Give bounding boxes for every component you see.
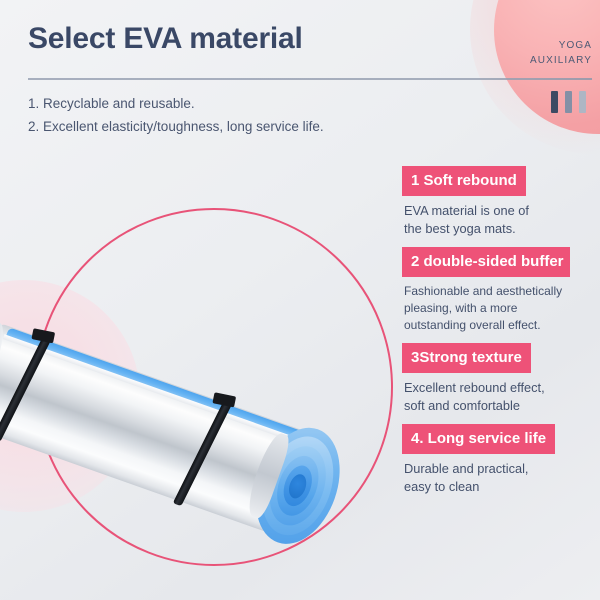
- page-title: Select EVA material: [28, 22, 303, 56]
- decorative-bars: [551, 91, 586, 113]
- feature-desc-4: Durable and practical, easy to clean: [402, 454, 600, 496]
- feature-item-4: 4. Long service life Durable and practic…: [402, 424, 600, 496]
- bar-1: [551, 91, 558, 113]
- feature-desc-1: EVA material is one of the best yoga mat…: [402, 196, 600, 238]
- feature-desc-3-line-2: soft and comfortable: [404, 397, 600, 415]
- intro-item-1: 1. Recyclable and reusable.: [28, 92, 428, 115]
- feature-desc-1-line-2: the best yoga mats.: [404, 220, 600, 238]
- intro-item-2: 2. Excellent elasticity/toughness, long …: [28, 115, 428, 138]
- brand-wordmark: YOGA AUXILIARY: [472, 38, 592, 68]
- feature-desc-2-line-3: outstanding overall effect.: [404, 317, 600, 334]
- feature-desc-2-line-2: pleasing, with a more: [404, 300, 600, 317]
- feature-desc-3-line-1: Excellent rebound effect,: [404, 379, 600, 397]
- feature-list: 1 Soft rebound EVA material is one of th…: [402, 166, 600, 505]
- feature-item-2: 2 double-sided buffer Fashionable and ae…: [402, 247, 600, 334]
- feature-desc-2: Fashionable and aesthetically pleasing, …: [402, 277, 600, 334]
- product-photo: [0, 150, 400, 600]
- bar-2: [565, 91, 572, 113]
- infographic-page: YOGA AUXILIARY Select EVA material 1. Re…: [0, 0, 600, 600]
- brand-line-2: AUXILIARY: [472, 53, 592, 68]
- feature-item-1: 1 Soft rebound EVA material is one of th…: [402, 166, 600, 238]
- feature-item-3: 3Strong texture Excellent rebound effect…: [402, 343, 600, 415]
- feature-badge-1: 1 Soft rebound: [402, 166, 526, 196]
- feature-badge-3: 3Strong texture: [402, 343, 531, 373]
- feature-desc-4-line-2: easy to clean: [404, 478, 600, 496]
- feature-desc-3: Excellent rebound effect, soft and comfo…: [402, 373, 600, 415]
- feature-desc-4-line-1: Durable and practical,: [404, 460, 600, 478]
- intro-list: 1. Recyclable and reusable. 2. Excellent…: [28, 92, 428, 138]
- feature-desc-1-line-1: EVA material is one of: [404, 202, 600, 220]
- feature-badge-4: 4. Long service life: [402, 424, 555, 454]
- feature-badge-2: 2 double-sided buffer: [402, 247, 570, 277]
- brand-line-1: YOGA: [472, 38, 592, 53]
- bar-3: [579, 91, 586, 113]
- header-divider: [28, 78, 592, 80]
- feature-desc-2-line-1: Fashionable and aesthetically: [404, 283, 600, 300]
